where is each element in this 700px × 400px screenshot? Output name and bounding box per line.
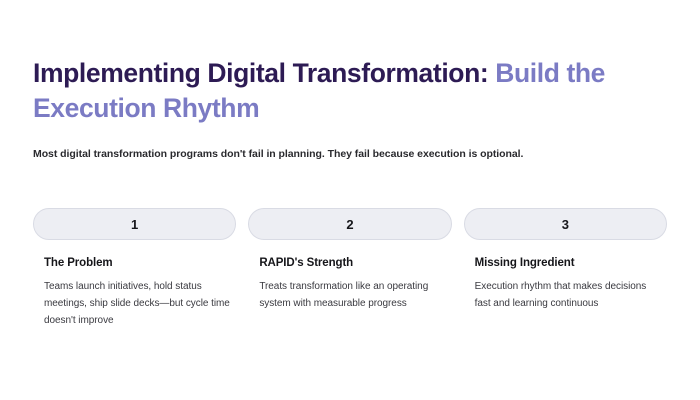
- card-body-2: RAPID's Strength Treats transformation l…: [248, 257, 451, 312]
- slide-canvas: Implementing Digital Transformation: Bui…: [0, 0, 700, 400]
- card-title-2: RAPID's Strength: [259, 257, 445, 269]
- list-item: 1 The Problem Teams launch initiatives, …: [33, 208, 236, 330]
- step-number-badge-3: 3: [464, 208, 667, 240]
- page-title-primary: Implementing Digital Transformation:: [33, 58, 488, 88]
- card-body-3: Missing Ingredient Execution rhythm that…: [464, 257, 667, 312]
- card-title-3: Missing Ingredient: [475, 257, 661, 269]
- card-body-1: The Problem Teams launch initiatives, ho…: [33, 257, 236, 330]
- list-item: 2 RAPID's Strength Treats transformation…: [248, 208, 451, 330]
- card-text-3: Execution rhythm that makes decisions fa…: [475, 278, 661, 312]
- card-text-2: Treats transformation like an operating …: [259, 278, 445, 312]
- card-title-1: The Problem: [44, 257, 230, 269]
- step-number-badge-1: 1: [33, 208, 236, 240]
- page-subtitle: Most digital transformation programs don…: [33, 148, 653, 160]
- list-item: 3 Missing Ingredient Execution rhythm th…: [464, 208, 667, 330]
- card-text-1: Teams launch initiatives, hold status me…: [44, 278, 230, 330]
- page-title: Implementing Digital Transformation: Bui…: [33, 56, 663, 126]
- card-list: 1 The Problem Teams launch initiatives, …: [33, 208, 667, 330]
- step-number-badge-2: 2: [248, 208, 451, 240]
